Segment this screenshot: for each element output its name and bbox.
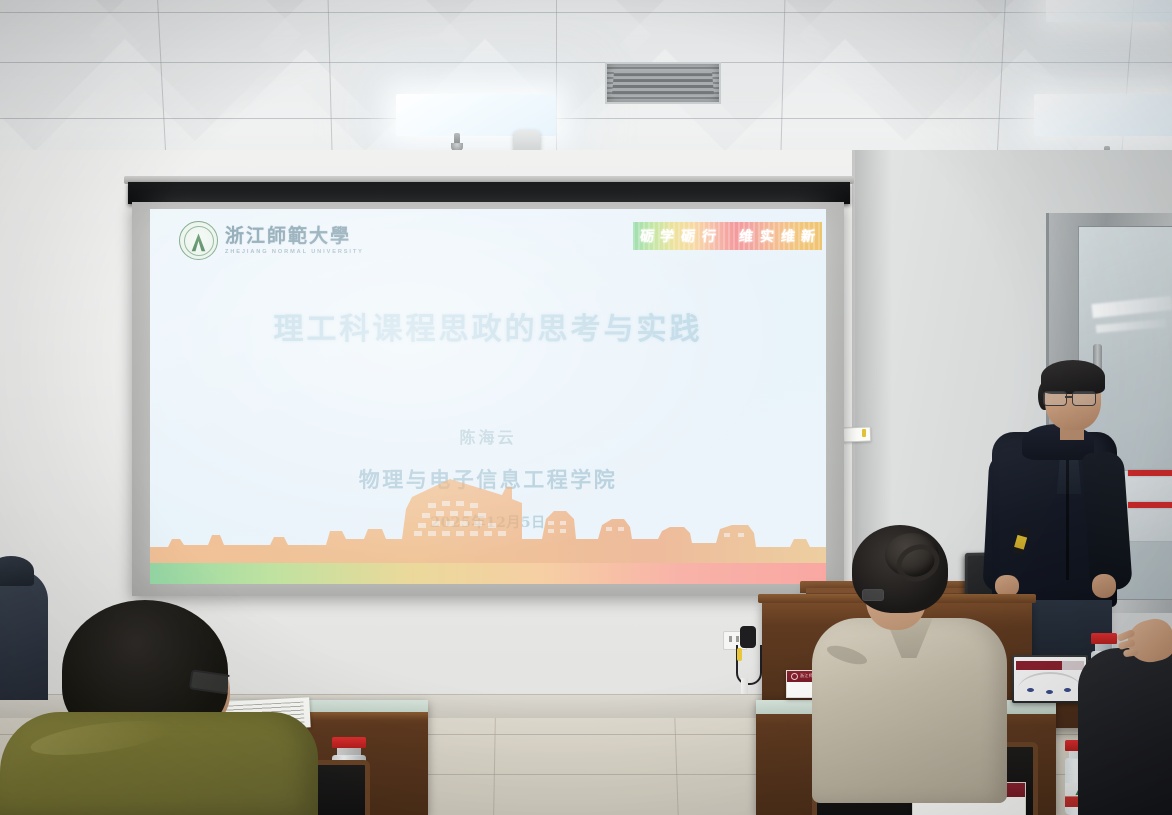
motto-char-3: 砺: [680, 226, 696, 246]
audience-slide-title-band: [1016, 661, 1084, 671]
motto-char-1: 砺: [639, 226, 655, 246]
university-name-cn: 浙江師範大學: [225, 227, 364, 246]
ceiling-light-right: [1034, 94, 1172, 136]
university-seal-icon: [179, 221, 218, 260]
motto-char-6: 实: [759, 226, 775, 246]
bottle-cap[interactable]: [1091, 633, 1117, 644]
wall-placard-marker: [862, 429, 866, 437]
audience-laptop[interactable]: [1012, 655, 1088, 703]
door-safety-stripe-upper: [1128, 470, 1172, 476]
bottle-cap[interactable]: [332, 737, 366, 748]
glasses-icon: [1043, 391, 1103, 405]
wall-placard: [843, 427, 872, 443]
motto-banner: 砺 学 砺 行 维 实 维 新: [633, 222, 822, 250]
far-left-torso: [0, 570, 48, 700]
seal-arch-glyph: [189, 233, 208, 252]
slide-footer-gradient-bar: [150, 563, 826, 584]
presenter-jacket-zipper: [1066, 448, 1069, 580]
motto-char-5: 维: [738, 226, 754, 246]
presenter-right-hand: [1092, 574, 1116, 598]
projection-screen-housing: [128, 182, 850, 204]
lecture-hall-scene: 浙江師範大學 ZHEJIANG NORMAL UNIVERSITY 砺 学 砺 …: [0, 0, 1172, 815]
air-vent: [605, 62, 721, 104]
presenter-hair: [1041, 360, 1105, 394]
right-foreground-torso: [1078, 648, 1172, 815]
campus-skyline-illustration: [150, 469, 826, 564]
door-safety-stripe-lower: [1128, 502, 1172, 508]
cord-yellow-tag: [737, 648, 742, 661]
slide-title: 理工科课程思政的思考与实践: [150, 304, 826, 348]
motto-char-7: 维: [780, 226, 796, 246]
slide-author: 陈海云: [150, 424, 826, 448]
university-name-en: ZHEJIANG NORMAL UNIVERSITY: [225, 249, 364, 255]
ceiling-light-upper-right: [1046, 0, 1172, 22]
glasses-icon: [862, 589, 884, 601]
motto-char-4: 行: [701, 226, 717, 246]
projected-slide: 浙江師範大學 ZHEJIANG NORMAL UNIVERSITY 砺 学 砺 …: [150, 209, 826, 584]
motto-char-2: 学: [660, 226, 676, 246]
motto-char-8: 新: [800, 226, 816, 246]
university-logo-lockup: 浙江師範大學 ZHEJIANG NORMAL UNIVERSITY: [179, 221, 364, 260]
audience-laptop-screen: [1014, 657, 1086, 701]
